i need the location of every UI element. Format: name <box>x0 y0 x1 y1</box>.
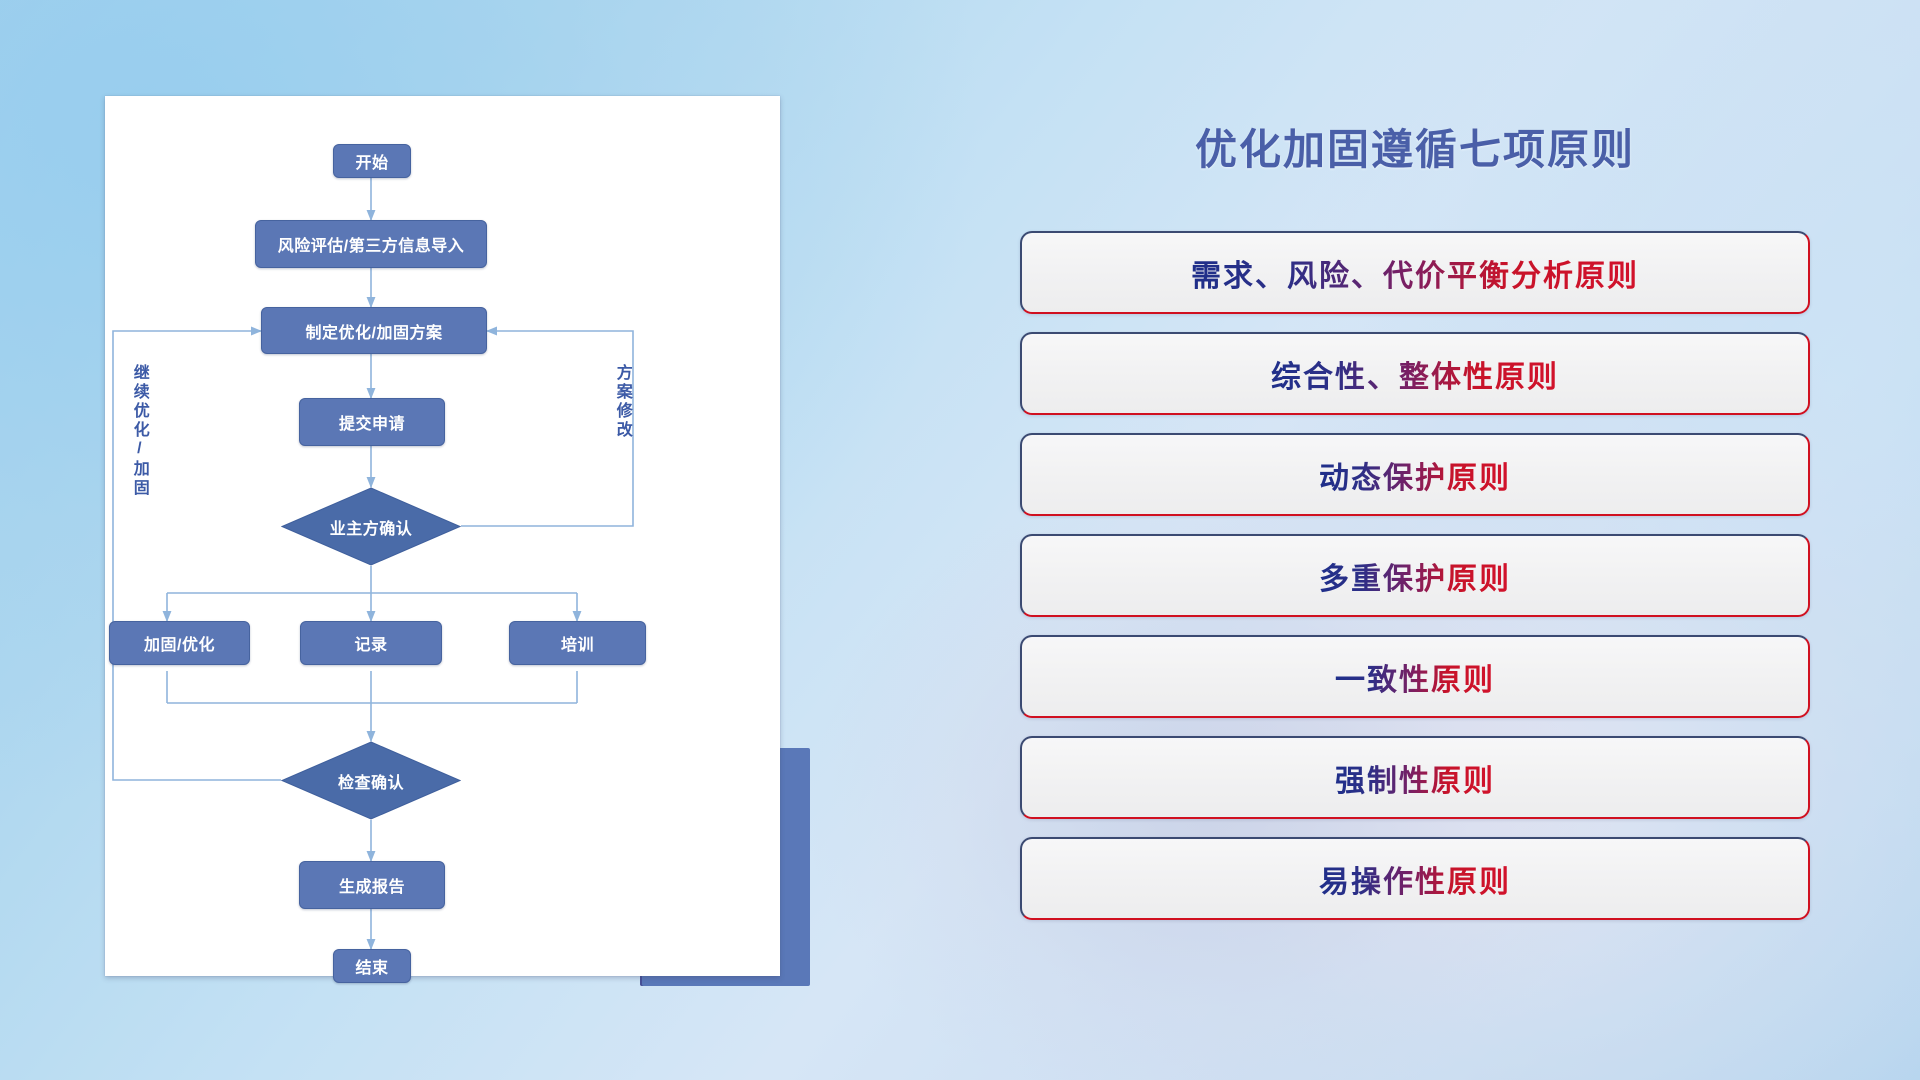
flow-node-label: 提交申请 <box>339 410 405 434</box>
principle-card-4[interactable]: 多重保护原则 <box>1020 534 1810 617</box>
flow-node-label: 生成报告 <box>339 873 405 897</box>
flow-node-submit-application[interactable]: 提交申请 <box>299 398 445 446</box>
principle-label: 需求、风险、代价平衡分析原则 <box>1191 251 1639 295</box>
flow-node-label: 结束 <box>355 954 388 978</box>
flow-node-reinforce-optimize[interactable]: 加固/优化 <box>109 621 250 665</box>
principle-label: 一致性原则 <box>1335 655 1495 699</box>
principle-label: 动态保护原则 <box>1319 453 1511 497</box>
principle-label: 强制性原则 <box>1335 756 1495 800</box>
flow-node-make-plan[interactable]: 制定优化/加固方案 <box>261 307 487 354</box>
principles-list: 需求、风险、代价平衡分析原则 综合性、整体性原则 动态保护原则 多重保护原则 一… <box>1020 231 1810 938</box>
flowchart-paper-card: 开始 风险评估/第三方信息导入 制定优化/加固方案 提交申请 业主方确认 加固/… <box>105 96 780 976</box>
flow-node-inspection-confirmation[interactable]: 检查确认 <box>281 741 461 820</box>
flow-node-label: 制定优化/加固方案 <box>306 319 443 343</box>
flow-node-risk-assessment[interactable]: 风险评估/第三方信息导入 <box>255 220 487 268</box>
flow-node-label: 培训 <box>561 631 594 655</box>
flow-node-start[interactable]: 开始 <box>333 144 411 178</box>
flow-node-record[interactable]: 记录 <box>300 621 442 665</box>
principle-card-2[interactable]: 综合性、整体性原则 <box>1020 332 1810 415</box>
flow-edge-label-left-loop: 继续优化/加固 <box>130 364 147 498</box>
flow-node-owner-confirmation[interactable]: 业主方确认 <box>281 487 461 566</box>
flow-edge-label-right-loop: 方案修改 <box>613 364 630 440</box>
principle-card-3[interactable]: 动态保护原则 <box>1020 433 1810 516</box>
flow-node-label: 加固/优化 <box>144 631 215 655</box>
flow-node-end[interactable]: 结束 <box>333 949 411 983</box>
flowchart-diagram: 开始 风险评估/第三方信息导入 制定优化/加固方案 提交申请 业主方确认 加固/… <box>105 96 780 976</box>
page-title: 优化加固遵循七项原则 <box>1020 116 1810 177</box>
flow-node-training[interactable]: 培训 <box>509 621 646 665</box>
principle-card-5[interactable]: 一致性原则 <box>1020 635 1810 718</box>
principle-card-6[interactable]: 强制性原则 <box>1020 736 1810 819</box>
principle-card-7[interactable]: 易操作性原则 <box>1020 837 1810 920</box>
flow-node-label: 业主方确认 <box>281 487 461 566</box>
flow-node-label: 检查确认 <box>281 741 461 820</box>
principle-card-1[interactable]: 需求、风险、代价平衡分析原则 <box>1020 231 1810 314</box>
flow-node-label: 开始 <box>355 149 388 173</box>
flow-node-generate-report[interactable]: 生成报告 <box>299 861 445 909</box>
flow-node-label: 记录 <box>354 631 387 655</box>
principle-label: 综合性、整体性原则 <box>1271 352 1559 396</box>
principle-label: 易操作性原则 <box>1319 857 1511 901</box>
principles-panel: 优化加固遵循七项原则 需求、风险、代价平衡分析原则 综合性、整体性原则 动态保护… <box>1020 96 1840 996</box>
flow-node-label: 风险评估/第三方信息导入 <box>278 232 464 256</box>
principle-label: 多重保护原则 <box>1319 554 1511 598</box>
